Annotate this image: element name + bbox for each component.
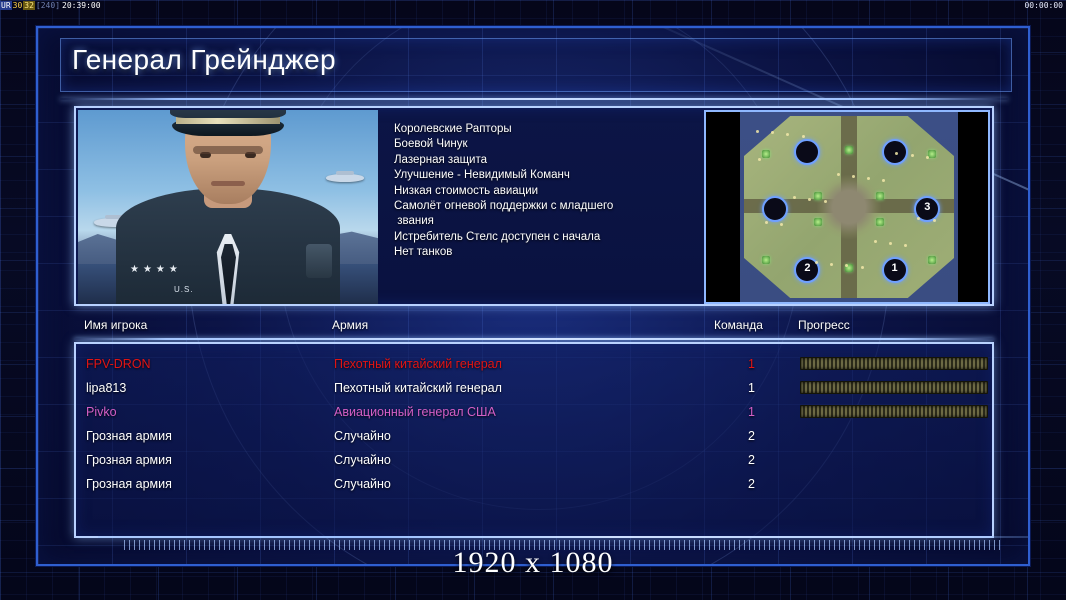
top-status-bar: UR3032[240]20:39:00 00:00:00 bbox=[0, 0, 1066, 12]
ability-line: Самолёт огневой поддержки с младшего bbox=[394, 199, 694, 214]
table-row[interactable]: Грозная армияСлучайно2 bbox=[76, 448, 992, 472]
player-team: 2 bbox=[748, 448, 755, 472]
portrait-cap-crown bbox=[170, 110, 286, 118]
column-header-army: Армия bbox=[332, 318, 368, 332]
minimap-start-position-1: 1 bbox=[882, 257, 908, 283]
status-token-32: 32 bbox=[23, 1, 35, 10]
minimap-prop-dot bbox=[933, 219, 936, 222]
ability-line: Низкая стоимость авиации bbox=[394, 184, 694, 199]
portrait-shoulder-board bbox=[306, 244, 332, 278]
player-name: Грозная армия bbox=[86, 424, 172, 448]
minimap-prop-dot bbox=[793, 196, 796, 199]
player-name: Грозная армия bbox=[86, 448, 172, 472]
minimap-prop-dot bbox=[889, 242, 892, 245]
minimap-prop-dot bbox=[756, 130, 759, 133]
player-name: Грозная армия bbox=[86, 472, 172, 496]
minimap-prop-dot bbox=[911, 154, 914, 157]
portrait-brow bbox=[193, 146, 263, 154]
column-header-name: Имя игрока bbox=[84, 318, 147, 332]
mission-minimap[interactable]: 321 bbox=[704, 110, 990, 304]
table-row[interactable]: lipa813Пехотный китайский генерал1 bbox=[76, 376, 992, 400]
session-clock: 00:00:00 bbox=[1024, 0, 1063, 12]
portrait-mouth bbox=[211, 181, 245, 186]
title-zone: Генерал Грейнджер bbox=[60, 42, 1008, 88]
general-abilities-list: Королевские Рапторы Боевой Чинук Лазерна… bbox=[394, 122, 694, 261]
status-token-frames: [240] bbox=[35, 1, 61, 10]
ability-line: Нет танков bbox=[394, 245, 694, 260]
rank-stars-icon: ★★★★ bbox=[130, 264, 200, 274]
ability-line: Королевские Рапторы bbox=[394, 122, 694, 137]
minimap-prop-dot bbox=[861, 266, 864, 269]
minimap-prop-dot bbox=[874, 240, 877, 243]
minimap-resource-icon bbox=[876, 192, 884, 200]
lobby-panel: Генерал Грейнджер bbox=[36, 26, 1030, 566]
minimap-resource-icon bbox=[814, 218, 822, 226]
minimap-resource-icon bbox=[928, 256, 936, 264]
player-team: 2 bbox=[748, 472, 755, 496]
game-screen: UR3032[240]20:39:00 00:00:00 Генерал Гре… bbox=[0, 0, 1066, 600]
ability-line: Лазерная защита bbox=[394, 153, 694, 168]
minimap-prop-dot bbox=[824, 200, 827, 203]
ability-line: Улучшение - Невидимый Команч bbox=[394, 168, 694, 183]
page-title: Генерал Грейнджер bbox=[72, 44, 336, 76]
player-table-header: Имя игрока Армия Команда Прогресс bbox=[74, 318, 994, 340]
player-name: FPV-DRON bbox=[86, 352, 151, 376]
general-info-frame: ★★★★ U.S. Королевские Рапторы Боевой Чин… bbox=[74, 106, 994, 306]
minimap-prop-dot bbox=[904, 244, 907, 247]
panel-bottom-divider bbox=[98, 536, 1030, 538]
us-insignia-label: U.S. bbox=[174, 285, 194, 294]
minimap-resource-icon bbox=[928, 150, 936, 158]
minimap-prop-dot bbox=[802, 135, 805, 138]
ability-line: звания bbox=[394, 214, 694, 229]
status-token-30: 30 bbox=[12, 1, 24, 10]
aircraft-icon bbox=[326, 174, 364, 182]
table-row[interactable]: Грозная армияСлучайно2 bbox=[76, 472, 992, 496]
table-row[interactable]: FPV-DRONПехотный китайский генерал1 bbox=[76, 352, 992, 376]
ability-line: Боевой Чинук bbox=[394, 137, 694, 152]
player-name: Pivko bbox=[86, 400, 117, 424]
minimap-prop-dot bbox=[852, 175, 855, 178]
table-header-divider bbox=[74, 338, 994, 340]
column-header-progress: Прогресс bbox=[798, 318, 850, 332]
minimap-start-position bbox=[762, 196, 788, 222]
player-army: Пехотный китайский генерал bbox=[334, 352, 502, 376]
minimap-prop-dot bbox=[780, 223, 783, 226]
player-name: lipa813 bbox=[86, 376, 126, 400]
player-army: Авиационный генерал США bbox=[334, 400, 496, 424]
player-army: Случайно bbox=[334, 448, 391, 472]
column-header-team: Команда bbox=[714, 318, 763, 332]
status-token-ur: UR bbox=[0, 1, 12, 10]
progress-bar bbox=[800, 405, 988, 418]
minimap-resource-icon bbox=[762, 150, 770, 158]
table-row[interactable]: PivkoАвиационный генерал США1 bbox=[76, 400, 992, 424]
resolution-overlay: 1920 x 1080 bbox=[0, 546, 1066, 580]
minimap-prop-dot bbox=[830, 263, 833, 266]
status-token-time: 20:39:00 bbox=[61, 1, 102, 10]
minimap-resource-icon bbox=[762, 256, 770, 264]
player-army: Пехотный китайский генерал bbox=[334, 376, 502, 400]
player-team: 2 bbox=[748, 424, 755, 448]
minimap-resource-icon bbox=[845, 146, 853, 154]
granger-portrait: ★★★★ U.S. bbox=[78, 110, 378, 304]
player-team: 1 bbox=[748, 352, 755, 376]
player-army: Случайно bbox=[334, 472, 391, 496]
minimap-prop-dot bbox=[765, 221, 768, 224]
player-team: 1 bbox=[748, 376, 755, 400]
minimap-prop-dot bbox=[837, 173, 840, 176]
progress-bar bbox=[800, 357, 988, 370]
table-row[interactable]: Грозная армияСлучайно2 bbox=[76, 424, 992, 448]
player-table: FPV-DRONПехотный китайский генерал1lipa8… bbox=[74, 342, 994, 538]
ability-line: Истребитель Стелс доступен с начала bbox=[394, 230, 694, 245]
progress-bar bbox=[800, 381, 988, 394]
minimap-resource-icon bbox=[876, 218, 884, 226]
player-team: 1 bbox=[748, 400, 755, 424]
minimap-resource-icon bbox=[814, 192, 822, 200]
minimap-prop-dot bbox=[815, 261, 818, 264]
player-army: Случайно bbox=[334, 424, 391, 448]
minimap-canvas: 321 bbox=[740, 112, 958, 302]
title-divider bbox=[60, 98, 1008, 100]
